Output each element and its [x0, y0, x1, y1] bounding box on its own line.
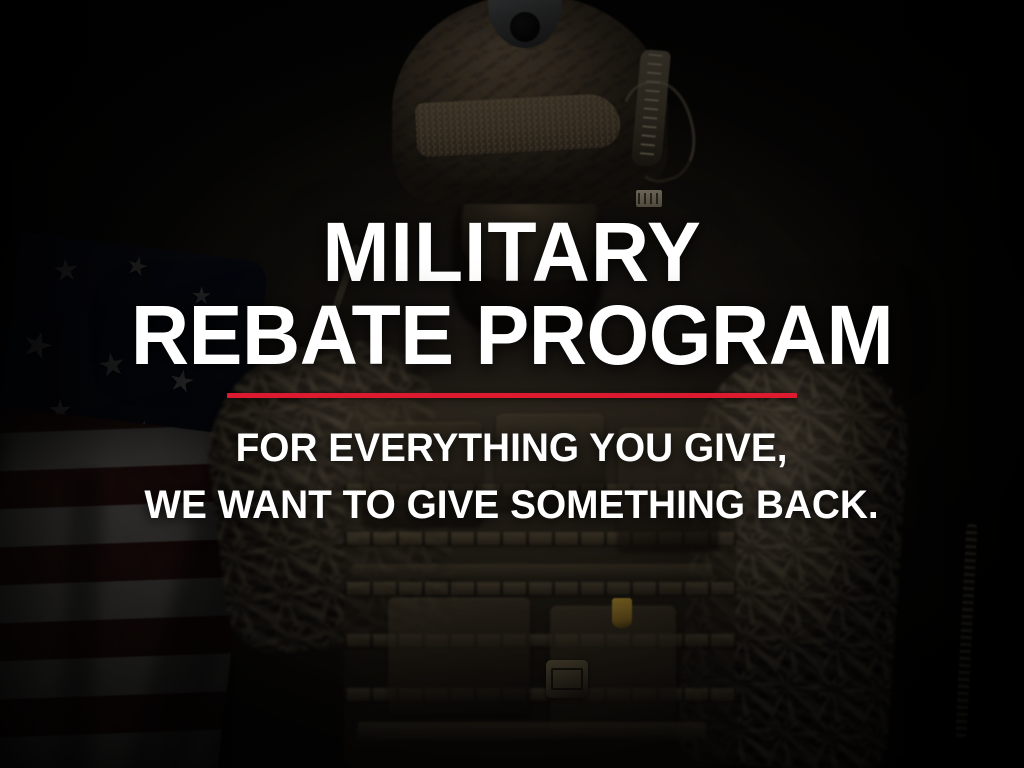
background-photograph: ★ ★ ★ ★ ★ ★ ★ ★ — [0, 0, 1024, 768]
vest-strap — [352, 564, 712, 580]
vest-zipper-icon — [955, 524, 977, 738]
molle-webbing-icon — [344, 582, 736, 595]
helmet-velcro-band — [415, 93, 622, 158]
vest-buckle-icon — [546, 660, 588, 698]
tactical-helmet-icon — [392, 0, 668, 204]
helmet-id-tag-icon — [636, 190, 662, 207]
vest-pouch — [618, 428, 718, 550]
vest-pouch — [496, 414, 604, 510]
vest-strap — [358, 722, 706, 740]
gold-pouch-accent-icon — [612, 598, 632, 628]
vest-pouch — [388, 598, 530, 714]
military-rebate-poster: ★ ★ ★ ★ ★ ★ ★ ★ — [0, 0, 1024, 768]
vest-pouch — [364, 422, 482, 526]
plate-carrier-vest-icon — [344, 392, 736, 768]
soldier-figure — [0, 0, 1024, 768]
